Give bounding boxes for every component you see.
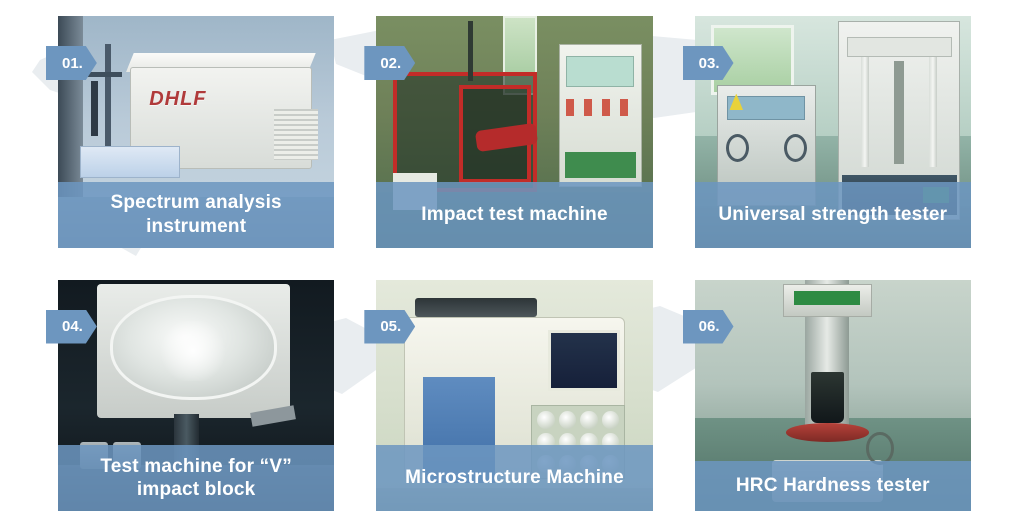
- card-caption-5: Microstructure Machine: [376, 445, 652, 511]
- equipment-gallery-grid: DHLF 01. Spectrum analysis instrument 02…: [0, 0, 1029, 529]
- instrument-brand-text: DHLF: [149, 88, 206, 111]
- equipment-card-4[interactable]: 04. Test machine for “V” impact block: [58, 280, 334, 512]
- equipment-card-5[interactable]: 05. Microstructure Machine: [376, 280, 652, 512]
- equipment-card-6[interactable]: 06. HRC Hardness tester: [695, 280, 971, 512]
- card-caption-3: Universal strength tester: [695, 182, 971, 248]
- card-caption-6: HRC Hardness tester: [695, 461, 971, 511]
- card-caption-2: Impact test machine: [376, 182, 652, 248]
- card-caption-1: Spectrum analysis instrument: [58, 182, 334, 248]
- equipment-card-3[interactable]: 03. Universal strength tester: [695, 16, 971, 248]
- equipment-card-2[interactable]: 02. Impact test machine: [376, 16, 652, 248]
- card-caption-4: Test machine for “V” impact block: [58, 445, 334, 511]
- equipment-card-1[interactable]: DHLF 01. Spectrum analysis instrument: [58, 16, 334, 248]
